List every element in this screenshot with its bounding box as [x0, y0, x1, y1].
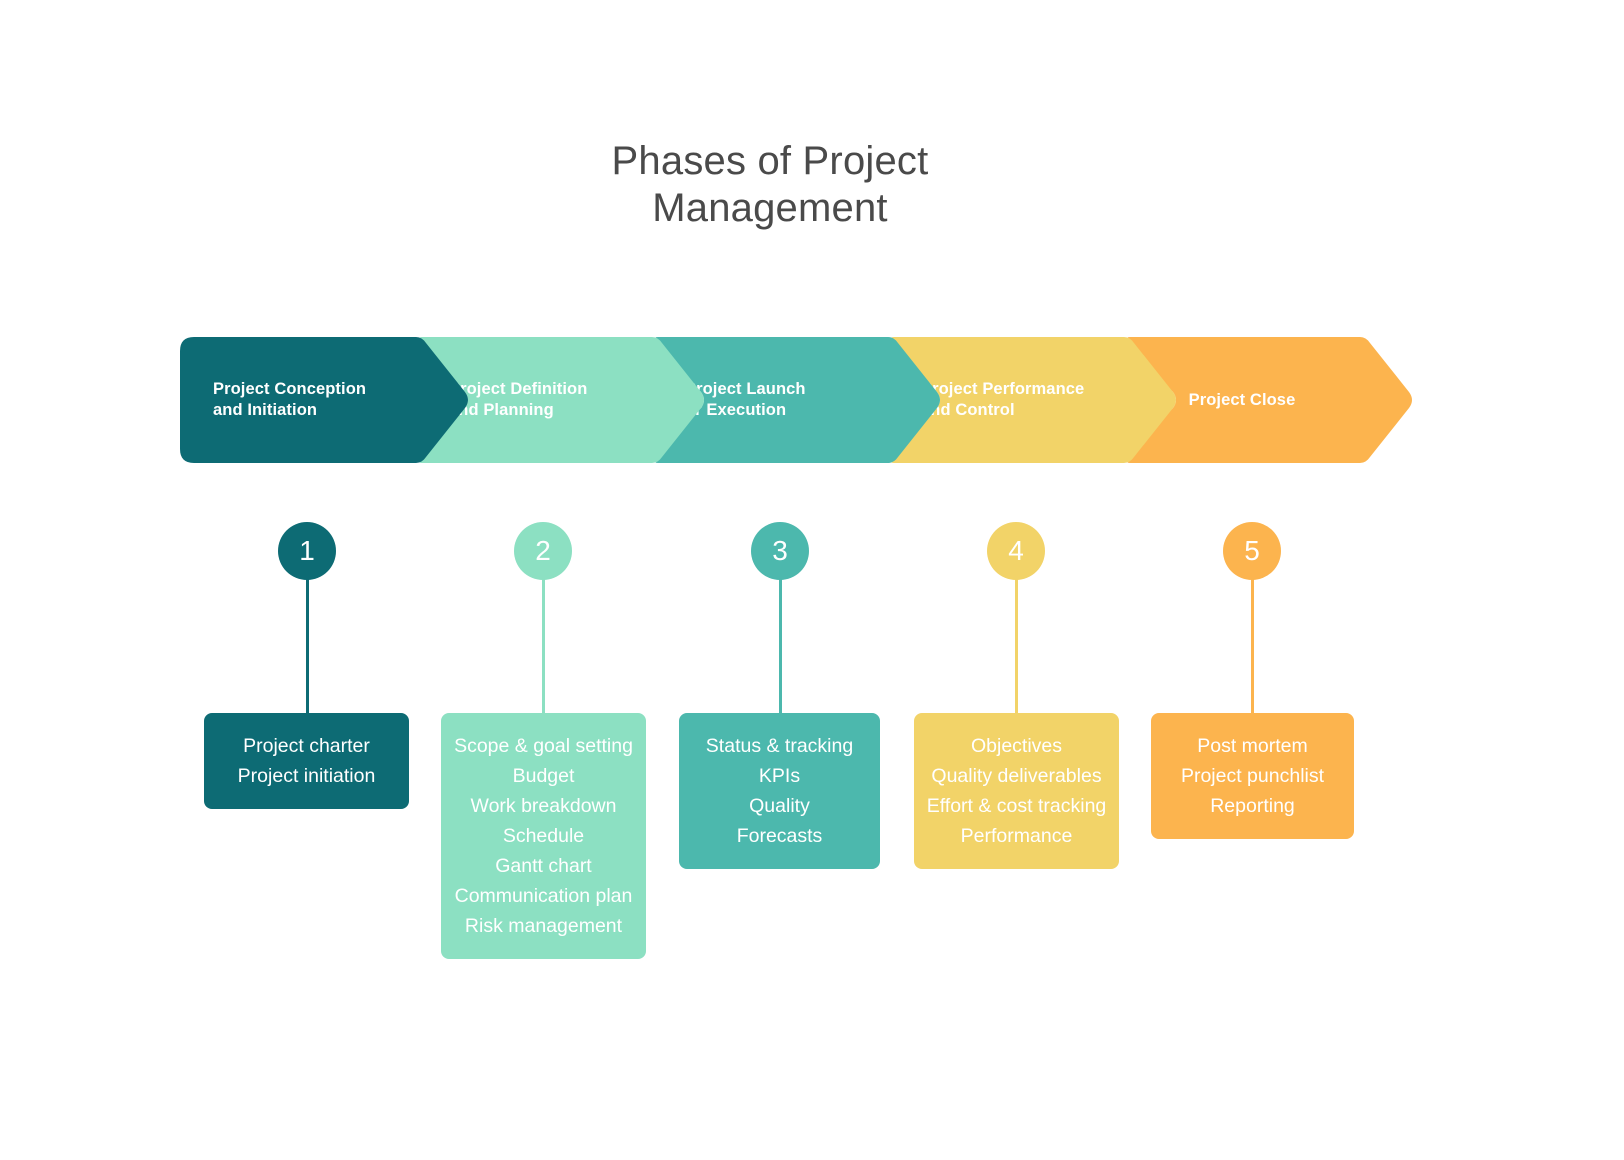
phase-detail-card-1[interactable]: Project charterProject initiation [204, 713, 409, 809]
phase-step-number: 5 [1244, 537, 1260, 565]
phase-chevron-band: Project Conception and InitiationProject… [180, 337, 1420, 463]
phase-detail-item: Effort & cost tracking [922, 791, 1111, 821]
phase-detail-item: Objectives [922, 731, 1111, 761]
phase-step-circle-4[interactable]: 4 [987, 522, 1045, 580]
phase-detail-item: Communication plan [449, 881, 638, 911]
phase-detail-item: Gantt chart [449, 851, 638, 881]
phase-detail-card-4[interactable]: ObjectivesQuality deliverablesEffort & c… [914, 713, 1119, 869]
phase-detail-item: Post mortem [1159, 731, 1346, 761]
phase-step-circle-3[interactable]: 3 [751, 522, 809, 580]
phase-detail-item: Risk management [449, 911, 638, 941]
phase-step-number: 4 [1008, 537, 1024, 565]
phase-chevron-1[interactable]: Project Conception and Initiation [180, 337, 471, 463]
phase-detail-item: Quality deliverables [922, 761, 1111, 791]
phase-detail-item: Budget [449, 761, 638, 791]
phase-detail-card-3[interactable]: Status & trackingKPIsQualityForecasts [679, 713, 880, 869]
phase-detail-item: Project charter [212, 731, 401, 761]
phase-step-circle-5[interactable]: 5 [1223, 522, 1281, 580]
phase-detail-item: Work breakdown [449, 791, 638, 821]
page-title: Phases of Project Management [0, 138, 1540, 232]
phase-detail-item: Forecasts [687, 821, 872, 851]
phase-step-number: 3 [772, 537, 788, 565]
phase-detail-item: Project initiation [212, 761, 401, 791]
phase-connector-line-2 [542, 578, 545, 715]
phase-detail-item: Status & tracking [687, 731, 872, 761]
phase-detail-item: Quality [687, 791, 872, 821]
title-line-1: Phases of Project [0, 138, 1540, 185]
phase-chevron-label: Project Conception and Initiation [180, 379, 366, 421]
phase-step-circle-1[interactable]: 1 [278, 522, 336, 580]
phase-detail-item: Scope & goal setting [449, 731, 638, 761]
phase-connector-line-4 [1015, 578, 1018, 715]
phase-step-number: 2 [535, 537, 551, 565]
phase-detail-item: Schedule [449, 821, 638, 851]
phase-detail-item: KPIs [687, 761, 872, 791]
phase-detail-item: Project punchlist [1159, 761, 1346, 791]
phase-detail-item: Reporting [1159, 791, 1346, 821]
phase-detail-item: Performance [922, 821, 1111, 851]
diagram-canvas: Phases of Project Management Project Con… [0, 0, 1624, 1160]
phase-detail-card-2[interactable]: Scope & goal settingBudgetWork breakdown… [441, 713, 646, 959]
phase-connector-line-1 [306, 578, 309, 715]
phase-step-number: 1 [299, 537, 315, 565]
phase-connector-line-5 [1251, 578, 1254, 715]
phase-connector-line-3 [779, 578, 782, 715]
phase-step-circle-2[interactable]: 2 [514, 522, 572, 580]
phase-detail-card-5[interactable]: Post mortemProject punchlistReporting [1151, 713, 1354, 839]
title-line-2: Management [0, 185, 1540, 232]
